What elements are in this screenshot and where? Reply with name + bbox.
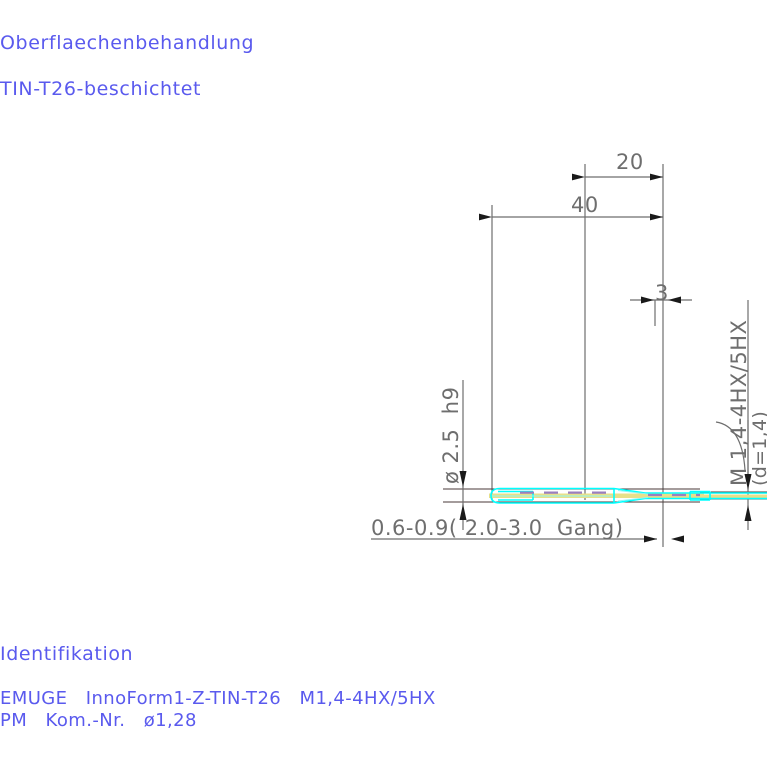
- tool-geometry: [489, 489, 767, 504]
- horizontal-dimension-lines: [371, 177, 692, 539]
- leader-curve-thread-core: [716, 422, 745, 470]
- drawing-canvas: Oberflaechenbehandlung TIN-T26-beschicht…: [0, 0, 767, 767]
- arrowheads-dim-pitch: [644, 536, 684, 543]
- drawing-geometry-overlay: [0, 0, 767, 767]
